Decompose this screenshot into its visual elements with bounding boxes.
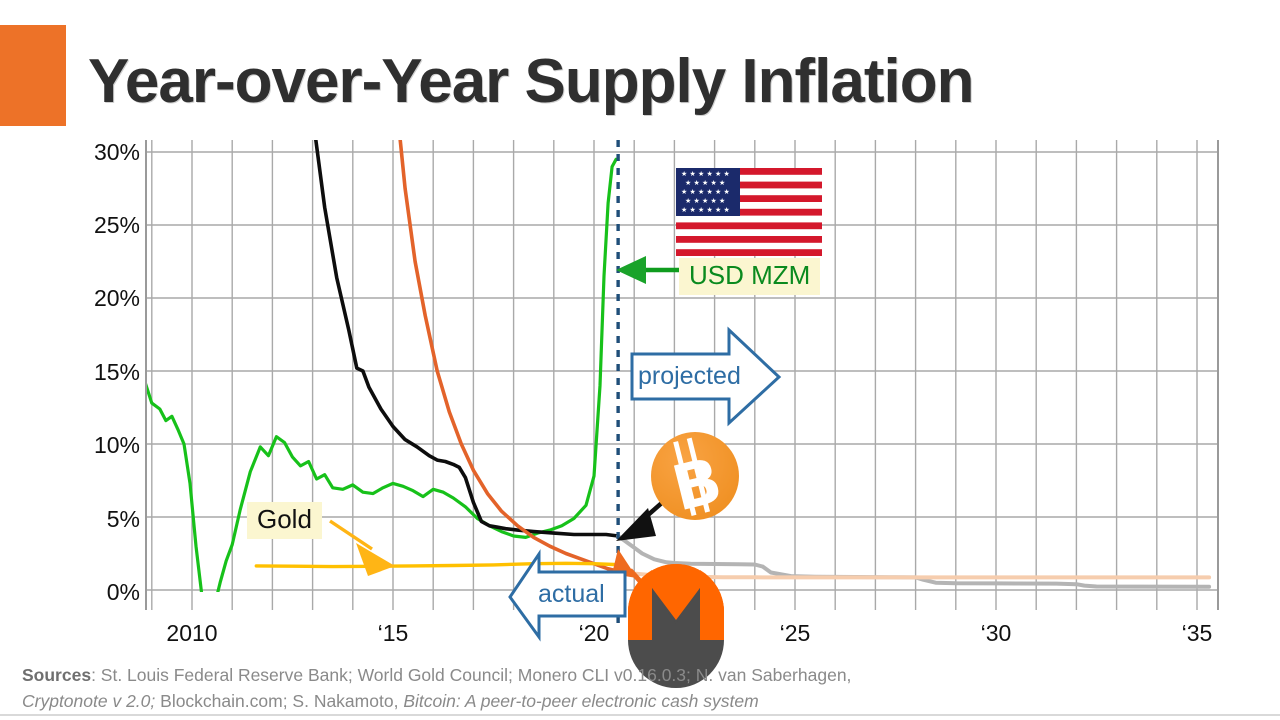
x-tick-label: ‘25: [750, 620, 840, 647]
x-tick-label: ‘30: [951, 620, 1041, 647]
actual-label: actual: [538, 580, 605, 609]
sources-italic-bitcoin: Bitcoin: A peer-to-peer electronic cash …: [403, 691, 758, 711]
y-tick-label: 20%: [70, 285, 140, 312]
sources-label: Sources: [22, 665, 91, 685]
sources-italic-cryptonote: Cryptonote v 2.0;: [22, 691, 155, 711]
x-tick-label: ‘35: [1152, 620, 1242, 647]
gold-callout: Gold: [247, 502, 322, 539]
series-bitcoin-actual: [297, 0, 619, 536]
footer-divider: [0, 714, 1280, 716]
svg-text:★ ★ ★ ★ ★: ★ ★ ★ ★ ★: [685, 179, 725, 187]
y-tick-label: 25%: [70, 212, 140, 239]
series-monero-actual: [383, 0, 618, 571]
y-tick-label: 5%: [70, 506, 140, 533]
usd-mzm-callout: USD MZM: [679, 258, 820, 295]
svg-text:★ ★ ★ ★ ★ ★: ★ ★ ★ ★ ★ ★: [681, 170, 730, 178]
bitcoin-logo-icon: B: [651, 432, 739, 525]
y-tick-label: 15%: [70, 359, 140, 386]
y-tick-label: 30%: [70, 139, 140, 166]
x-tick-label: ‘20: [549, 620, 639, 647]
chart-area: ★ ★ ★ ★ ★ ★ ★ ★ ★ ★ ★ ★ ★ ★ ★ ★ ★ ★ ★ ★ …: [0, 0, 1280, 720]
sources-footer: Sources: St. Louis Federal Reserve Bank;…: [22, 662, 1262, 715]
chart-svg: ★ ★ ★ ★ ★ ★ ★ ★ ★ ★ ★ ★ ★ ★ ★ ★ ★ ★ ★ ★ …: [0, 0, 1280, 720]
usd-mzm-arrow: [616, 256, 682, 284]
series-usd-mzm: [144, 159, 616, 615]
sources-line2-mid: Blockchain.com; S. Nakamoto,: [155, 691, 403, 711]
svg-text:★ ★ ★ ★ ★: ★ ★ ★ ★ ★: [685, 197, 725, 205]
series-gold: [256, 563, 614, 566]
svg-text:★ ★ ★ ★ ★ ★: ★ ★ ★ ★ ★ ★: [681, 206, 730, 214]
svg-text:★ ★ ★ ★ ★ ★: ★ ★ ★ ★ ★ ★: [681, 188, 730, 196]
us-flag-icon: ★ ★ ★ ★ ★ ★ ★ ★ ★ ★ ★ ★ ★ ★ ★ ★ ★ ★ ★ ★ …: [676, 168, 822, 256]
y-tick-label: 0%: [70, 579, 140, 606]
projected-label: projected: [638, 362, 741, 391]
sources-line1: : St. Louis Federal Reserve Bank; World …: [91, 665, 851, 685]
y-tick-label: 10%: [70, 432, 140, 459]
x-tick-label: 2010: [147, 620, 237, 647]
x-tick-label: ‘15: [348, 620, 438, 647]
